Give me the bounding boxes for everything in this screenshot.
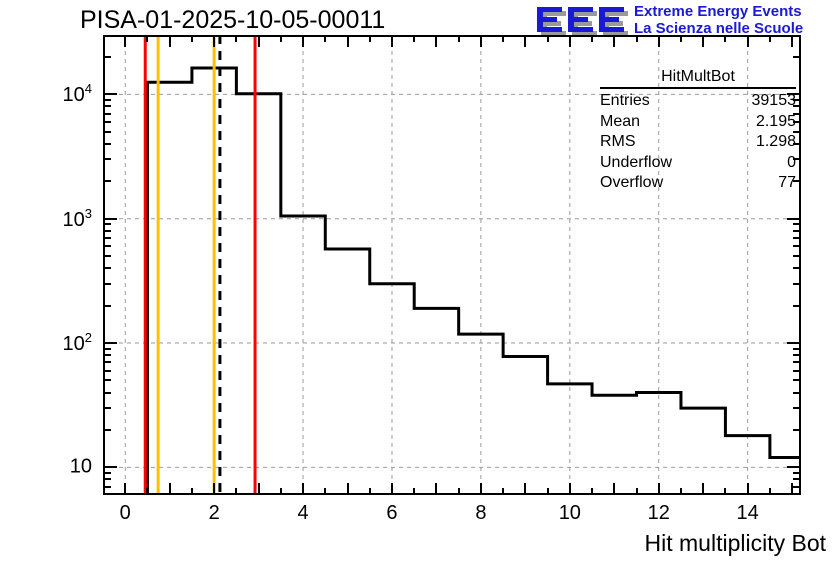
y-tick-minor-right (793, 283, 801, 285)
y-tick-minor (103, 223, 111, 225)
x-tick-major-top (124, 35, 126, 47)
x-tick-major (569, 483, 571, 495)
x-tick-major (747, 483, 749, 495)
y-tick-minor (103, 370, 111, 372)
x-tick-major (613, 483, 615, 495)
x-tick-major-top (524, 35, 526, 47)
y-tick-minor-right (793, 354, 801, 356)
x-tick-minor (146, 488, 148, 495)
x-tick-major (258, 483, 260, 495)
x-tick-minor-top (591, 35, 593, 42)
y-tick-minor (103, 158, 111, 160)
page-title: PISA-01-2025-10-05-00011 (80, 6, 385, 35)
y-tick-minor-right (793, 478, 801, 480)
y-tick-minor-right (793, 223, 801, 225)
y-tick-minor (103, 392, 111, 394)
y-axis-tick-label: 104 (0, 82, 92, 108)
eee-logo-icon (536, 3, 628, 39)
y-tick-minor (103, 56, 111, 58)
y-axis-tick-label: 102 (0, 330, 92, 356)
stats-row-key: Entries (600, 91, 650, 112)
stats-row: RMS1.298 (600, 132, 796, 153)
x-tick-major-top (480, 35, 482, 47)
y-tick-minor (103, 143, 111, 145)
y-tick-minor (103, 429, 111, 431)
x-tick-minor (724, 488, 726, 495)
x-tick-major (702, 483, 704, 495)
x-tick-major (391, 483, 393, 495)
stats-box-title: HitMultBot (600, 68, 796, 87)
x-tick-major-top (258, 35, 260, 47)
x-axis-tick-label: 6 (386, 502, 397, 525)
y-tick-minor (103, 354, 111, 356)
x-tick-major (169, 483, 171, 495)
x-tick-major-top (702, 35, 704, 47)
x-tick-minor-top (502, 35, 504, 42)
y-tick-minor-right (793, 267, 801, 269)
y-tick-major-right (787, 342, 801, 344)
x-tick-minor-top (146, 35, 148, 42)
x-tick-major-top (391, 35, 393, 47)
stats-rows: Entries39153Mean2.195RMS1.298Underflow0O… (600, 91, 796, 194)
y-tick-minor (103, 379, 111, 381)
x-axis-tick-label: 0 (120, 502, 131, 525)
x-tick-minor-top (769, 35, 771, 42)
y-tick-minor (103, 113, 111, 115)
y-tick-major (103, 93, 117, 95)
y-tick-minor-right (793, 305, 801, 307)
y-tick-minor-right (793, 361, 801, 363)
x-tick-minor (547, 488, 549, 495)
y-tick-minor-right (793, 429, 801, 431)
y-tick-minor (103, 255, 111, 257)
x-tick-minor-top (413, 35, 415, 42)
x-tick-minor (369, 488, 371, 495)
y-tick-minor (103, 131, 111, 133)
x-tick-minor-top (458, 35, 460, 42)
x-tick-major (435, 483, 437, 495)
x-tick-minor-top (636, 35, 638, 42)
y-tick-minor-right (793, 370, 801, 372)
x-tick-minor-top (191, 35, 193, 42)
x-tick-minor (458, 488, 460, 495)
x-tick-minor (502, 488, 504, 495)
y-tick-minor (103, 105, 111, 107)
y-tick-minor (103, 361, 111, 363)
stats-row-value: 1.298 (756, 132, 796, 153)
y-tick-major (103, 342, 117, 344)
stats-row-value: 0 (787, 153, 796, 174)
y-tick-minor-right (793, 245, 801, 247)
y-tick-minor-right (793, 230, 801, 232)
x-tick-major (524, 483, 526, 495)
x-tick-minor (280, 488, 282, 495)
y-tick-minor (103, 486, 111, 488)
stats-row-key: Overflow (600, 173, 663, 194)
stats-box-rule (600, 87, 796, 89)
y-tick-minor-right (793, 348, 801, 350)
x-tick-major (302, 483, 304, 495)
x-tick-major-top (658, 35, 660, 47)
x-tick-minor-top (324, 35, 326, 42)
y-tick-minor (103, 180, 111, 182)
y-tick-minor (103, 237, 111, 239)
x-tick-minor (324, 488, 326, 495)
x-tick-minor-top (280, 35, 282, 42)
x-tick-minor (769, 488, 771, 495)
y-tick-minor-right (793, 255, 801, 257)
stats-row-key: Mean (600, 112, 640, 133)
stats-row: Overflow77 (600, 173, 796, 194)
stats-row: Entries39153 (600, 91, 796, 112)
x-tick-major-top (169, 35, 171, 47)
y-tick-major (103, 218, 117, 220)
x-tick-minor (591, 488, 593, 495)
stats-row-value: 77 (778, 173, 796, 194)
x-tick-minor-top (369, 35, 371, 42)
y-tick-minor (103, 230, 111, 232)
stats-row: Mean2.195 (600, 112, 796, 133)
y-tick-minor (103, 348, 111, 350)
y-tick-major (103, 466, 117, 468)
y-tick-minor (103, 121, 111, 123)
x-tick-minor-top (235, 35, 237, 42)
x-tick-minor (235, 488, 237, 495)
stats-row-value: 2.195 (756, 112, 796, 133)
stats-row: Underflow0 (600, 153, 796, 174)
x-tick-minor-top (680, 35, 682, 42)
y-tick-minor (103, 283, 111, 285)
x-axis-tick-label: 14 (737, 502, 759, 525)
x-tick-minor (680, 488, 682, 495)
y-tick-major-right (787, 218, 801, 220)
root-canvas: { "title": "PISA-01-2025-10-05-00011", "… (0, 0, 836, 572)
x-tick-major-top (435, 35, 437, 47)
x-tick-major (124, 483, 126, 495)
y-tick-minor (103, 407, 111, 409)
x-axis-tick-label: 4 (298, 502, 309, 525)
x-axis-tick-label: 12 (648, 502, 670, 525)
y-tick-minor (103, 245, 111, 247)
stats-box: HitMultBot Entries39153Mean2.195RMS1.298… (600, 68, 796, 194)
x-tick-major-top (302, 35, 304, 47)
x-tick-minor-top (547, 35, 549, 42)
x-tick-major (658, 483, 660, 495)
y-tick-minor (103, 305, 111, 307)
x-tick-major-top (747, 35, 749, 47)
y-tick-minor-right (793, 56, 801, 58)
x-tick-minor (636, 488, 638, 495)
x-axis-tick-label: 10 (559, 502, 581, 525)
eee-logo-text: Extreme Energy Events La Scienza nelle S… (634, 3, 803, 37)
x-tick-major-top (347, 35, 349, 47)
y-tick-minor (103, 267, 111, 269)
y-tick-minor-right (793, 407, 801, 409)
y-tick-minor (103, 472, 111, 474)
stats-row-key: RMS (600, 132, 636, 153)
x-tick-minor (413, 488, 415, 495)
y-tick-minor-right (793, 392, 801, 394)
x-tick-major-top (613, 35, 615, 47)
x-tick-major-top (569, 35, 571, 47)
y-tick-minor-right (793, 472, 801, 474)
stats-row-key: Underflow (600, 153, 672, 174)
x-tick-major (480, 483, 482, 495)
y-tick-major-right (787, 466, 801, 468)
y-axis-tick-label: 10 (0, 456, 92, 479)
y-tick-minor-right (793, 379, 801, 381)
y-tick-minor-right (793, 237, 801, 239)
x-tick-major-top (791, 35, 793, 47)
y-tick-minor-right (793, 486, 801, 488)
x-axis-tick-label: 8 (475, 502, 486, 525)
x-tick-major-top (213, 35, 215, 47)
eee-logo-line1: Extreme Energy Events (634, 3, 803, 20)
x-tick-minor-top (724, 35, 726, 42)
x-tick-minor (191, 488, 193, 495)
x-tick-major (213, 483, 215, 495)
x-axis-title: Hit multiplicity Bot (645, 530, 826, 557)
y-tick-minor (103, 478, 111, 480)
stats-row-value: 39153 (752, 91, 797, 112)
y-tick-minor (103, 99, 111, 101)
x-axis-tick-label: 2 (209, 502, 220, 525)
x-tick-major (347, 483, 349, 495)
y-axis-tick-label: 103 (0, 206, 92, 232)
